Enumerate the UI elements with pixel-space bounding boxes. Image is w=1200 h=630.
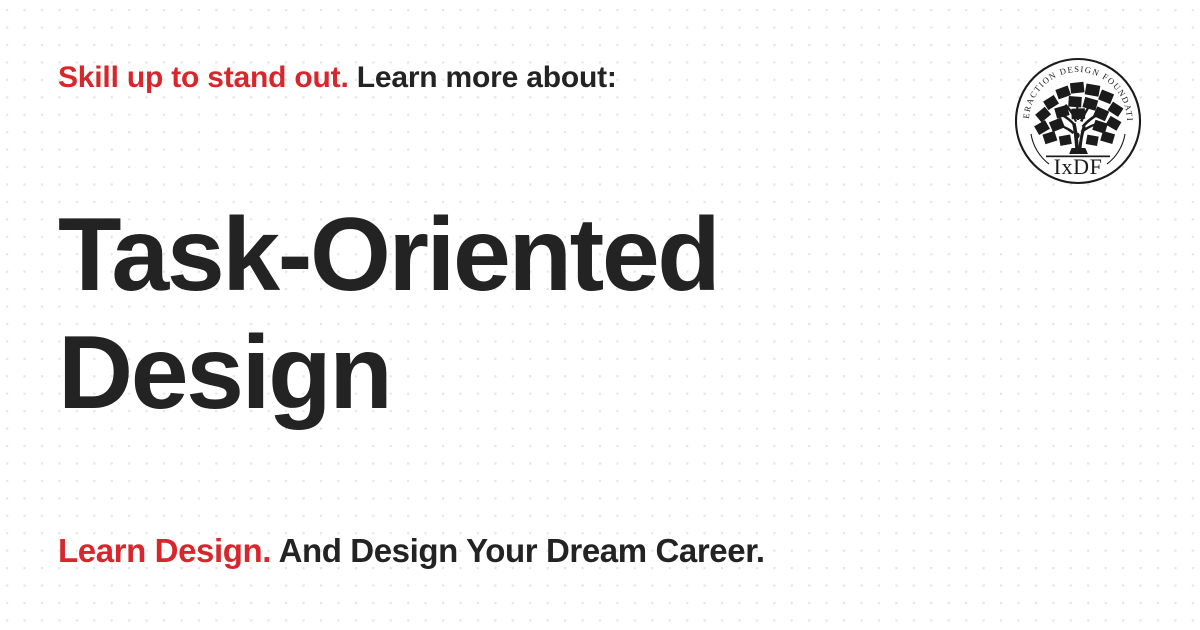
tagline: Learn Design. And Design Your Dream Care… (58, 529, 1118, 573)
headline-line-2: Design (58, 314, 938, 432)
promo-card: Skill up to stand out. Learn more about:… (0, 0, 1200, 630)
tagline-accent-text: Learn Design. (58, 532, 271, 569)
eyebrow-line: Skill up to stand out. Learn more about: (58, 58, 958, 98)
eyebrow-rest-text: Learn more about: (349, 61, 617, 94)
tagline-rest-text: And Design Your Dream Career. (271, 532, 765, 569)
logo-wordmark: IxDF (1054, 154, 1103, 179)
ixdf-logo: INTERACTION DESIGN FOUNDATION (1013, 56, 1143, 186)
page-title: Task-Oriented Design (58, 196, 938, 432)
eyebrow-accent-text: Skill up to stand out. (58, 61, 349, 94)
headline-line-1: Task-Oriented (58, 196, 938, 314)
